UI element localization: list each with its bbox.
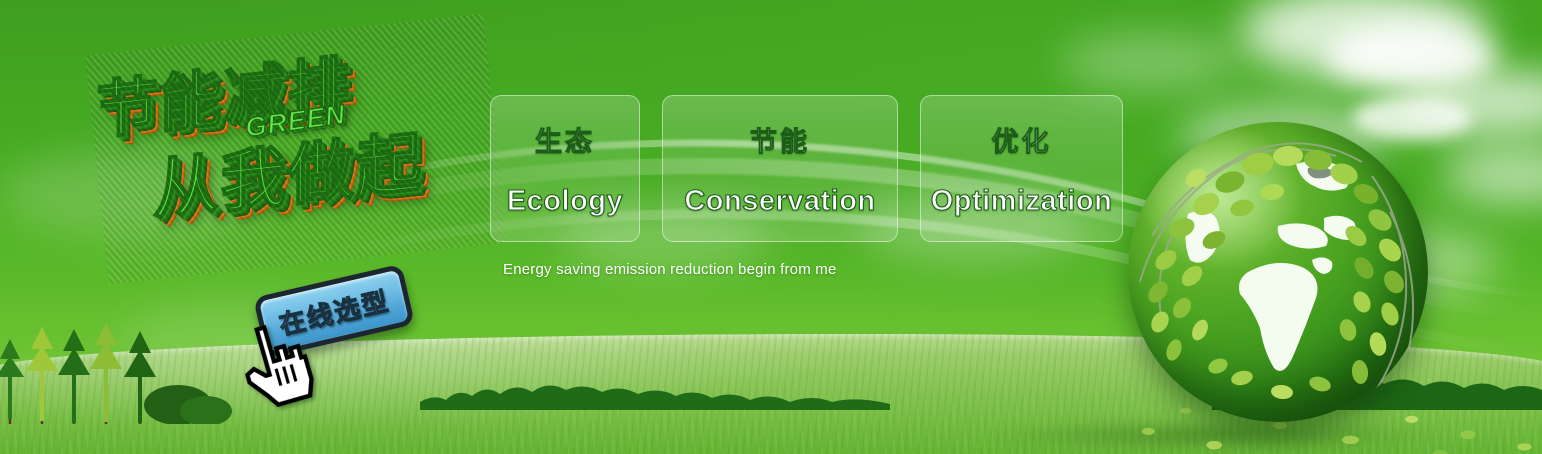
card-title-en: Ecology [507,185,623,218]
headline-3d-text: 节能减排 GREEN 从我做起 [85,14,507,285]
feature-card-optimization[interactable]: 优化 Optimization [920,95,1123,242]
conifer-trees-icon [0,319,232,424]
eco-hero-banner: 节能减排 GREEN 从我做起 在线选型 生态 Ecology 节能 Conse… [0,0,1542,454]
card-title-en: Optimization [931,185,1113,218]
leafy-earth-globe-icon [1128,122,1428,422]
cloud-icon [1060,34,1240,90]
card-title-en: Conservation [684,185,875,218]
banner-tagline: Energy saving emission reduction begin f… [503,261,837,278]
feature-card-conservation[interactable]: 节能 Conservation [662,95,898,242]
cloud-icon [1240,0,1490,78]
card-title-cn: 生态 [535,120,595,159]
cloud-icon [1326,26,1496,88]
cloud-icon [1442,146,1542,204]
feature-card-ecology[interactable]: 生态 Ecology [490,95,640,242]
card-title-cn: 优化 [992,120,1052,159]
feature-cards: 生态 Ecology 节能 Conservation 优化 Optimizati… [490,95,1123,242]
globe-sphere [1128,122,1428,422]
card-title-cn: 节能 [750,120,810,159]
